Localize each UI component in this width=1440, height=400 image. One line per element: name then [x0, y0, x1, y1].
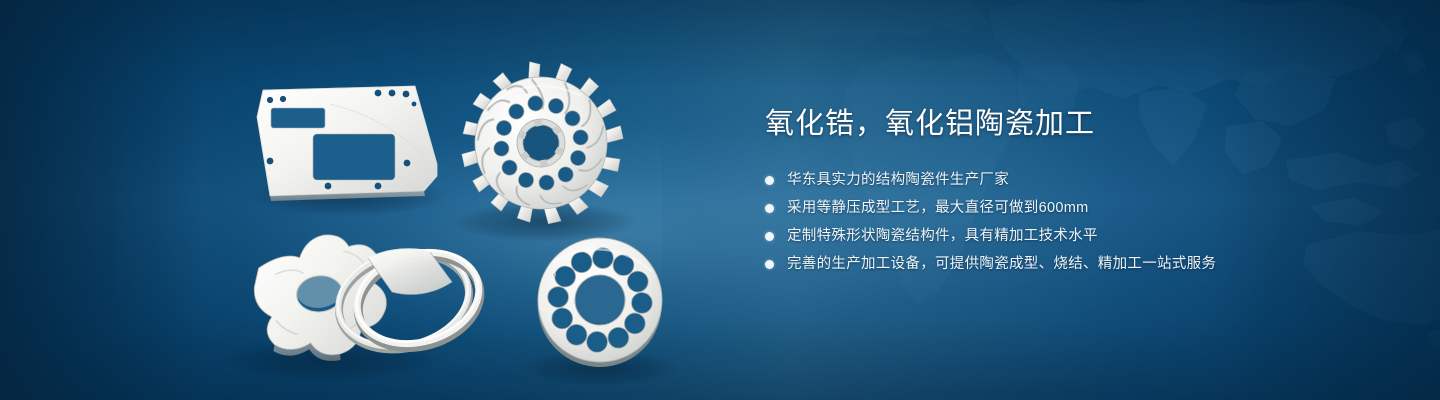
list-item: 采用等静压成型工艺，最大直径可做到600mm — [765, 198, 1385, 219]
list-item: 完善的生产加工设备，可提供陶瓷成型、烧结、精加工一站式服务 — [765, 254, 1385, 275]
bullet-dot-icon — [765, 232, 774, 241]
page-title: 氧化锆，氧化铝陶瓷加工 — [765, 104, 1385, 144]
bullet-dot-icon — [765, 204, 774, 213]
feature-text: 定制特殊形状陶瓷结构件，具有精加工技术水平 — [787, 226, 1098, 247]
banner-copy: 氧化锆，氧化铝陶瓷加工 华东具实力的结构陶瓷件生产厂家 采用等静压成型工艺，最大… — [765, 104, 1385, 282]
feature-text: 华东具实力的结构陶瓷件生产厂家 — [787, 170, 1009, 191]
list-item: 华东具实力的结构陶瓷件生产厂家 — [765, 170, 1385, 191]
list-item: 定制特殊形状陶瓷结构件，具有精加工技术水平 — [765, 226, 1385, 247]
hero-banner: 氧化锆，氧化铝陶瓷加工 华东具实力的结构陶瓷件生产厂家 采用等静压成型工艺，最大… — [0, 0, 1440, 400]
bullet-dot-icon — [765, 176, 774, 185]
feature-list: 华东具实力的结构陶瓷件生产厂家 采用等静压成型工艺，最大直径可做到600mm 定… — [765, 170, 1385, 275]
bullet-dot-icon — [765, 260, 774, 269]
feature-text: 采用等静压成型工艺，最大直径可做到600mm — [787, 198, 1088, 219]
feature-text: 完善的生产加工设备，可提供陶瓷成型、烧结、精加工一站式服务 — [787, 254, 1216, 275]
